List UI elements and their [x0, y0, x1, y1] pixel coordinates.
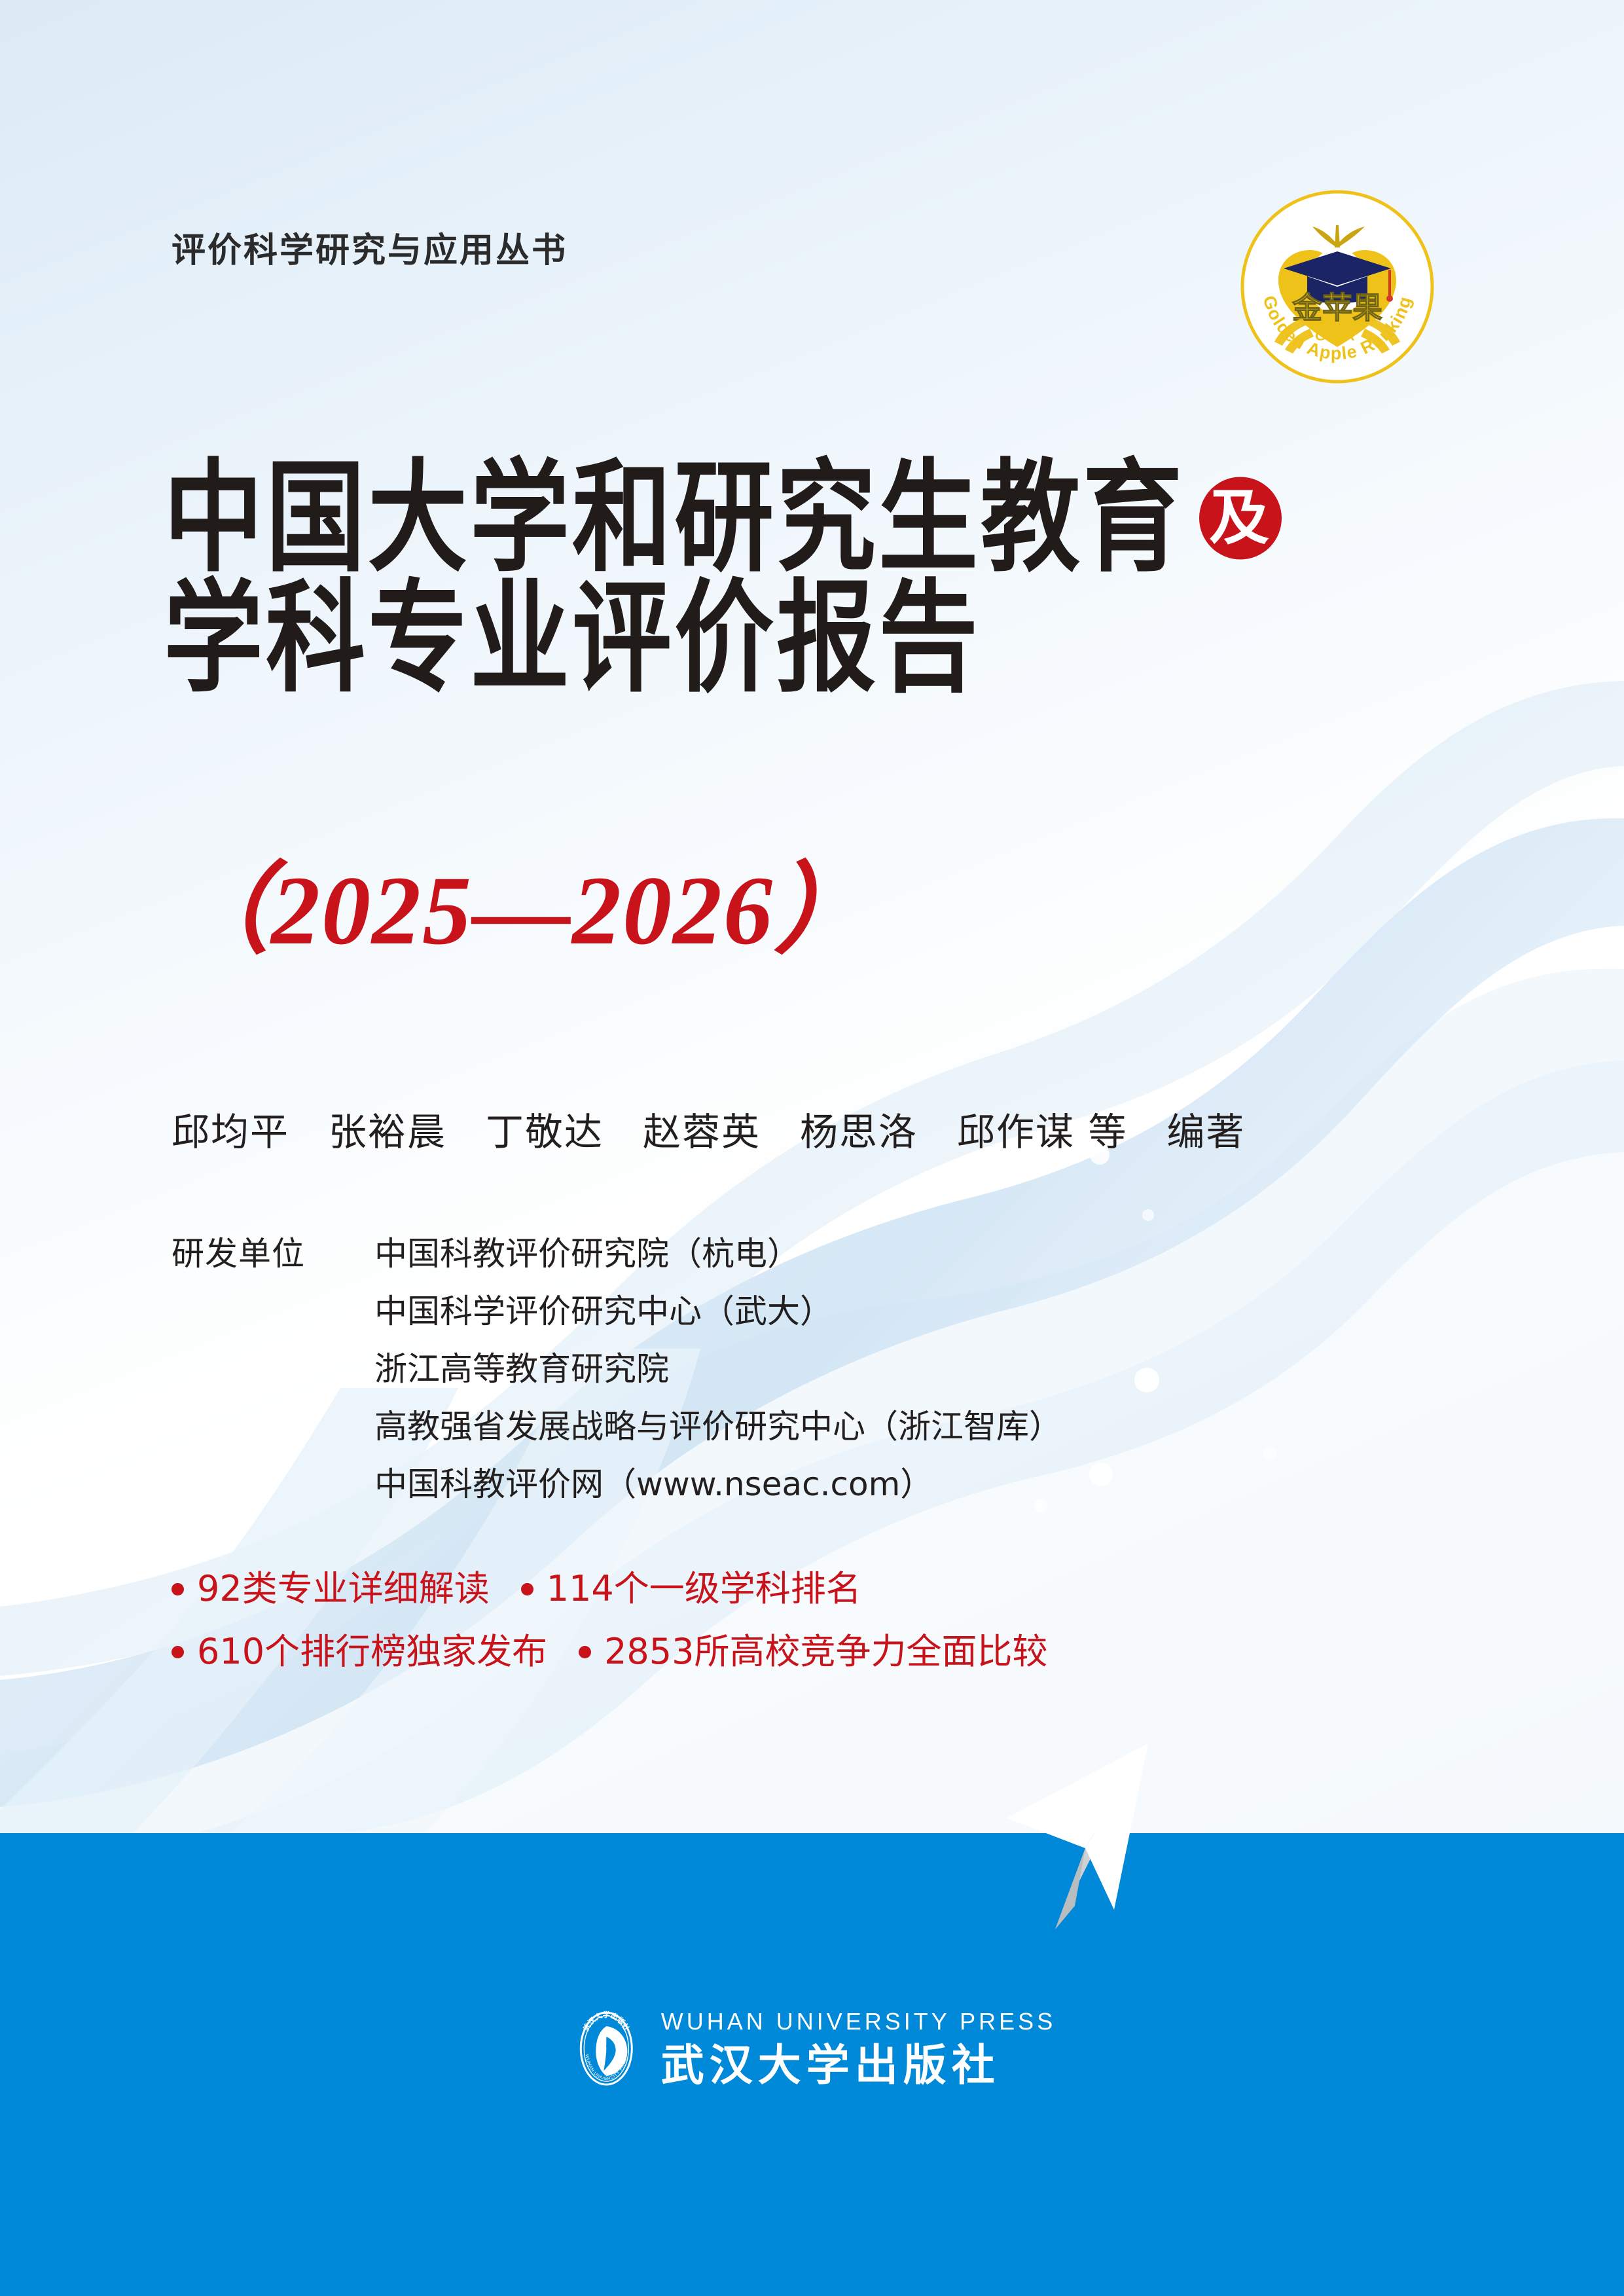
research-units-block: 研发单位 中国科教评价研究院（杭电） 中国科学评价研究中心（武大） 浙江高等教育… — [171, 1232, 1062, 1520]
edition-years: （2025—2026） — [171, 862, 873, 960]
golden-apple-ranking-badge: 金苹果 GAR Golden Apple Ranking — [1239, 189, 1435, 385]
title-line-1: 中国大学和研究生教育 及 — [164, 458, 1473, 578]
research-unit-item: 中国科学评价研究中心（武大） — [374, 1290, 833, 1333]
bullet-dot-icon — [171, 1646, 184, 1658]
research-unit-item-website: 中国科教评价网（www.nseac.com） — [374, 1463, 933, 1506]
highlight-row: 92类专业详细解读 114个一级学科排名 — [171, 1571, 1079, 1607]
bubble-decoration — [1134, 1368, 1159, 1393]
highlight-text: 92类专业详细解读 — [197, 1571, 490, 1607]
wuhan-university-press-seal-icon: 武汉大学出版社 WUHAN UNIVERSITY PRESS — [568, 2011, 644, 2086]
svg-text:GAR: GAR — [1315, 329, 1360, 344]
publisher-block: 武汉大学出版社 WUHAN UNIVERSITY PRESS WUHAN UNI… — [568, 2010, 1056, 2087]
bubble-decoration — [1263, 1446, 1277, 1461]
highlight-item: 92类专业详细解读 — [171, 1571, 490, 1607]
research-units-row: 研发单位 中国科教评价研究院（杭电） — [171, 1232, 1062, 1275]
bullet-dot-icon — [579, 1646, 591, 1658]
highlight-item: 2853所高校竞争力全面比较 — [579, 1634, 1047, 1669]
highlights-block: 92类专业详细解读 114个一级学科排名 610个排行榜独家发布 2853所高校… — [171, 1571, 1079, 1697]
research-units-label: 研发单位 — [171, 1232, 374, 1275]
research-unit-item: 中国科教评价研究院（杭电） — [374, 1232, 800, 1275]
book-title: 中国大学和研究生教育 及 学科专业评价报告 — [164, 458, 1473, 677]
paper-plane-icon — [1001, 1738, 1296, 1941]
research-unit-item: 浙江高等教育研究院 — [374, 1347, 669, 1391]
bullet-dot-icon — [521, 1583, 533, 1595]
highlight-text: 610个排行榜独家发布 — [197, 1634, 547, 1669]
bullet-dot-icon — [171, 1583, 184, 1595]
highlight-item: 114个一级学科排名 — [521, 1571, 861, 1607]
svg-text:金苹果: 金苹果 — [1291, 290, 1382, 325]
research-units-row: 高教强省发展战略与评价研究中心（浙江智库） — [171, 1405, 1062, 1448]
highlight-item: 610个排行榜独家发布 — [171, 1634, 547, 1669]
title-ji-circle-badge: 及 — [1199, 477, 1282, 559]
series-label: 评价科学研究与应用丛书 — [171, 223, 568, 272]
title-line-1-text: 中国大学和研究生教育 — [164, 458, 1185, 578]
publisher-text: WUHAN UNIVERSITY PRESS 武汉大学出版社 — [661, 2010, 1056, 2087]
research-unit-item: 高教强省发展战略与评价研究中心（浙江智库） — [374, 1405, 1062, 1448]
publisher-name-en: WUHAN UNIVERSITY PRESS — [661, 2010, 1056, 2033]
research-units-row: 中国科学评价研究中心（武大） — [171, 1290, 1062, 1333]
highlight-row: 610个排行榜独家发布 2853所高校竞争力全面比较 — [171, 1634, 1079, 1669]
research-units-row: 浙江高等教育研究院 — [171, 1347, 1062, 1391]
book-cover: 评价科学研究与应用丛书 金苹果 GAR — [0, 0, 1624, 2296]
wave-shape-1 — [0, 681, 1624, 1676]
publisher-name-cn: 武汉大学出版社 — [661, 2044, 1056, 2087]
bubble-decoration — [1089, 1463, 1113, 1486]
research-units-row: 中国科教评价网（www.nseac.com） — [171, 1463, 1062, 1506]
authors-line: 邱均平 张裕晨 丁敬达 赵蓉英 杨思洛 邱作谋 等 编著 — [171, 1113, 1245, 1151]
title-line-2: 学科专业评价报告 — [164, 579, 1473, 699]
bubble-decoration — [1142, 1209, 1154, 1221]
highlight-text: 114个一级学科排名 — [547, 1571, 861, 1607]
highlight-text: 2853所高校竞争力全面比较 — [604, 1634, 1047, 1669]
